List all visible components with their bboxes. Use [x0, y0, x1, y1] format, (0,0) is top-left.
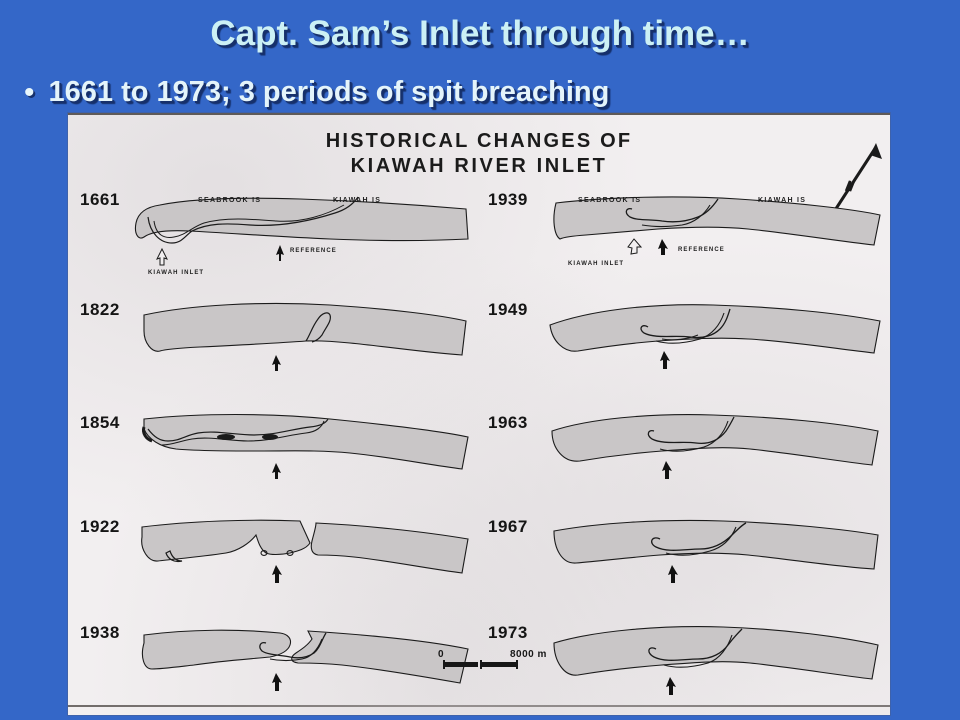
- panel-year-1967: 1967: [488, 517, 528, 537]
- label-inlet-1939: KIAWAH INLET: [568, 261, 624, 267]
- map-panel-1854: [130, 407, 470, 489]
- label-seabrook-1661: SEABROOK IS: [198, 197, 261, 204]
- label-kiawah-1939: KIAWAH IS: [758, 197, 806, 204]
- map-panel-1973: [538, 621, 883, 703]
- panel-year-1922: 1922: [80, 517, 120, 537]
- label-inlet-1661: KIAWAH INLET: [148, 270, 204, 276]
- panel-year-1963: 1963: [488, 413, 528, 433]
- scale-label-max: 8000 m: [510, 649, 547, 660]
- panel-year-1822: 1822: [80, 300, 120, 320]
- map-panel-1822: [130, 297, 470, 377]
- scale-tick-right: [516, 660, 518, 669]
- historical-map-figure: HISTORICAL CHANGES OF KIAWAH RIVER INLET…: [68, 113, 890, 715]
- map-panel-1967: [538, 513, 883, 595]
- panel-year-1938: 1938: [80, 623, 120, 643]
- scale-bar: 0 8000 m: [438, 649, 548, 675]
- bullet-item-text: 1661 to 1973; 3 periods of spit breachin…: [49, 76, 610, 109]
- map-panel-1938: [130, 621, 470, 703]
- map-title: HISTORICAL CHANGES OF KIAWAH RIVER INLET: [68, 129, 890, 179]
- panel-year-1949: 1949: [488, 300, 528, 320]
- panel-year-1973: 1973: [488, 623, 528, 643]
- figure-bottom-rule: [68, 705, 890, 707]
- bullet-marker-icon: •: [24, 78, 35, 108]
- label-kiawah-1661: KIAWAH IS: [333, 197, 381, 204]
- scale-label-zero: 0: [438, 649, 444, 660]
- bullet-list-item: • 1661 to 1973; 3 periods of spit breach…: [24, 76, 924, 109]
- map-title-line-2: KIAWAH RIVER INLET: [68, 154, 890, 179]
- scale-segment-2: [482, 662, 516, 667]
- label-reference-1661: REFERENCE: [290, 248, 337, 254]
- panel-year-1939: 1939: [488, 190, 528, 210]
- scale-segment-1: [444, 662, 478, 667]
- label-seabrook-1939: SEABROOK IS: [578, 197, 641, 204]
- map-panel-1949: [538, 297, 883, 377]
- slide: Capt. Sam’s Inlet through time… • 1661 t…: [0, 0, 960, 720]
- panel-year-1854: 1854: [80, 413, 120, 433]
- map-panel-1922: [130, 513, 470, 595]
- map-panel-1661: [130, 187, 470, 267]
- page-title: Capt. Sam’s Inlet through time…: [0, 14, 960, 54]
- label-reference-1939: REFERENCE: [678, 247, 725, 253]
- map-panel-1963: [538, 407, 883, 489]
- panel-year-1661: 1661: [80, 190, 120, 210]
- map-title-line-1: HISTORICAL CHANGES OF: [68, 129, 890, 154]
